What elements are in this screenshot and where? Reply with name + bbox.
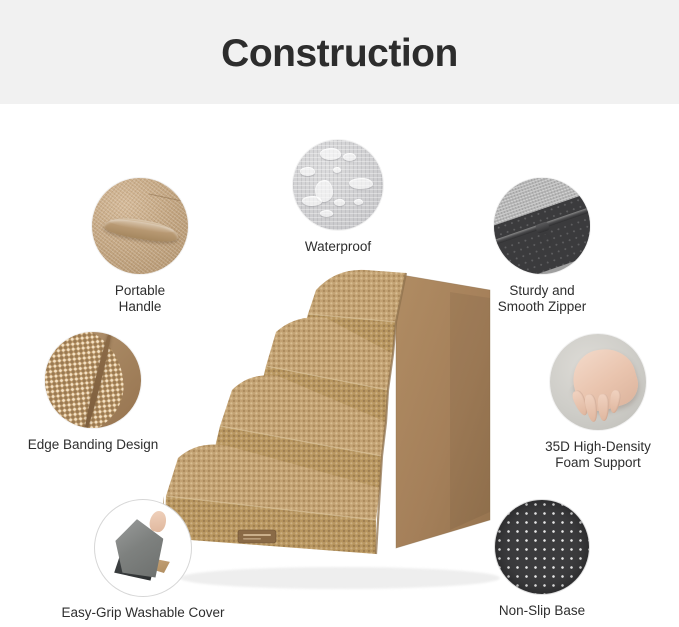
portable-handle-icon (92, 178, 188, 274)
feature-non-slip-base: Non-Slip Base (495, 500, 589, 619)
feature-edge-banding-design: Edge Banding Design (45, 332, 141, 453)
feature-label-easy-grip-washable-cover: Easy-Grip Washable Cover (55, 605, 231, 621)
feature-waterproof: Waterproof (293, 140, 383, 255)
product-image-pet-stairs (150, 262, 510, 592)
feature-label-sturdy-smooth-zipper: Sturdy and Smooth Zipper (494, 283, 590, 315)
feature-label-waterproof: Waterproof (293, 239, 383, 255)
feature-label-non-slip-base: Non-Slip Base (470, 603, 614, 619)
washable-cover-icon (95, 500, 191, 596)
non-slip-base-icon (495, 500, 589, 594)
waterproof-icon (293, 140, 383, 230)
feature-portable-handle: Portable Handle (92, 178, 188, 315)
page-title: Construction (0, 30, 679, 78)
feature-label-foam-support: 35D High-Density Foam Support (522, 439, 674, 471)
foam-support-icon (550, 334, 646, 430)
product-logo-tag (238, 530, 276, 543)
zipper-icon (494, 178, 590, 274)
feature-easy-grip-washable-cover: Easy-Grip Washable Cover (95, 500, 191, 621)
infographic-page: Construction (0, 0, 679, 627)
feature-label-portable-handle: Portable Handle (92, 283, 188, 315)
feature-foam-support: 35D High-Density Foam Support (550, 334, 646, 471)
feature-label-edge-banding-design: Edge Banding Design (17, 437, 169, 453)
edge-banding-icon (45, 332, 141, 428)
feature-sturdy-smooth-zipper: Sturdy and Smooth Zipper (494, 178, 590, 315)
pet-stairs-illustration (150, 262, 510, 592)
header-band: Construction (0, 0, 679, 104)
